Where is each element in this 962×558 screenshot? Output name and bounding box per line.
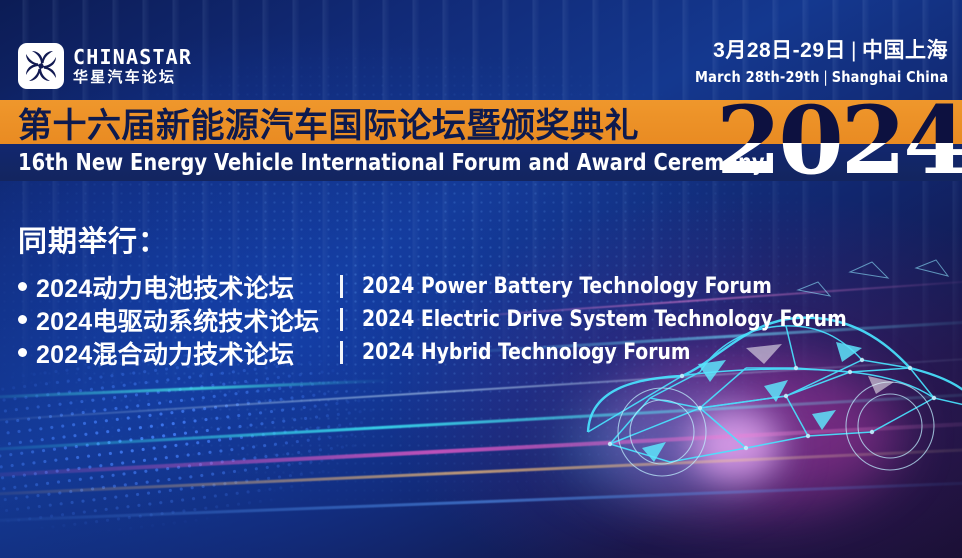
date-location-en: March 28th-29th|Shanghai China — [695, 70, 948, 86]
brand-wordmark: CHINASTAR 华星汽车论坛 — [73, 47, 192, 85]
brand-logo: CHINASTAR 华星汽车论坛 — [18, 43, 192, 89]
brand-name-en: CHINASTAR — [73, 47, 192, 67]
bullet-icon — [18, 348, 27, 357]
list-item: 2024混合动力技术论坛 2024 Hybrid Technology Foru… — [18, 336, 872, 369]
list-item: 2024电驱动系统技术论坛 2024 Electric Drive System… — [18, 303, 872, 336]
banner-header: CHINASTAR 华星汽车论坛 3月28日-29日|中国上海 March 28… — [0, 0, 962, 100]
forum-name-cn: 2024电驱动系统技术论坛 — [36, 302, 340, 338]
forum-separator — [340, 341, 343, 364]
page-title-en: 16th New Energy Vehicle International Fo… — [18, 144, 765, 181]
star-flower-glyph — [21, 46, 61, 86]
concurrent-heading: 同期举行： — [18, 218, 872, 260]
date-en: March 28th-29th — [695, 68, 820, 86]
bullet-icon — [18, 315, 27, 324]
brand-name-cn: 华星汽车论坛 — [73, 70, 192, 85]
forum-list: 2024动力电池技术论坛 2024 Power Battery Technolo… — [18, 270, 872, 369]
star-flower-logo-icon — [18, 43, 64, 89]
date-location-cn: 3月28日-29日|中国上海 — [676, 40, 948, 61]
location-en: Shanghai China — [831, 68, 948, 86]
concurrent-forums-section: 同期举行： 2024动力电池技术论坛 2024 Power Battery Te… — [18, 218, 872, 369]
list-item: 2024动力电池技术论坛 2024 Power Battery Technolo… — [18, 270, 872, 303]
forum-name-en: 2024 Hybrid Technology Forum — [362, 340, 690, 365]
location-cn: 中国上海 — [862, 39, 948, 62]
event-date-location: 3月28日-29日|中国上海 March 28th-29th|Shanghai … — [676, 40, 948, 86]
event-year: 2024 2024 — [716, 98, 962, 184]
forum-name-en: 2024 Electric Drive System Technology Fo… — [362, 307, 847, 332]
date-separator-cn: | — [846, 39, 862, 62]
forum-name-en: 2024 Power Battery Technology Forum — [362, 274, 772, 299]
forum-separator — [340, 308, 343, 331]
date-cn: 3月28日-29日 — [713, 39, 846, 62]
date-separator-en: | — [819, 68, 831, 86]
conference-banner: CHINASTAR 华星汽车论坛 3月28日-29日|中国上海 March 28… — [0, 0, 962, 558]
bullet-icon — [18, 282, 27, 291]
forum-name-cn: 2024动力电池技术论坛 — [36, 269, 340, 305]
page-title-cn: 第十六届新能源汽车国际论坛暨颁奖典礼 — [18, 100, 639, 144]
forum-separator — [340, 275, 343, 298]
forum-name-cn: 2024混合动力技术论坛 — [36, 335, 340, 371]
